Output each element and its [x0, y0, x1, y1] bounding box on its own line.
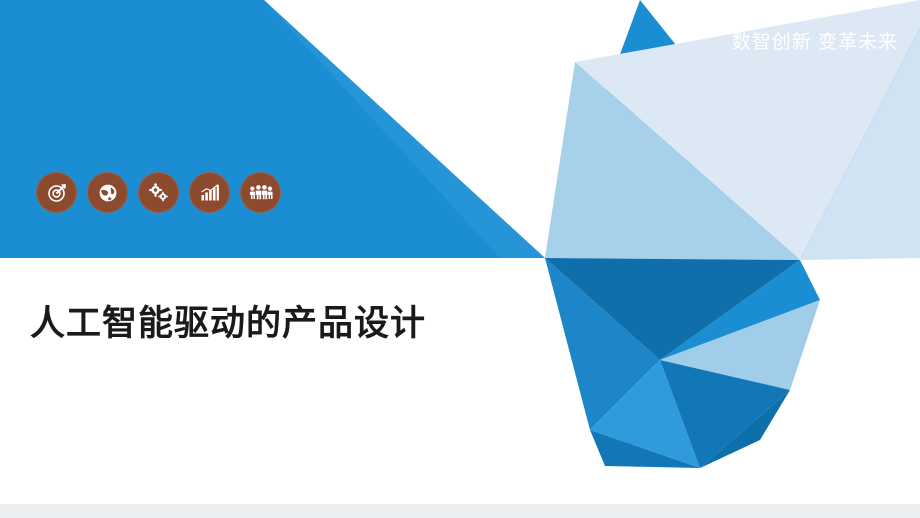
target-arrow-icon: [36, 172, 77, 213]
footer-strip: [0, 504, 920, 518]
page-title: 人工智能驱动的产品设计: [30, 295, 426, 346]
gears-icon: [138, 172, 179, 213]
globe-icon: [87, 172, 128, 213]
slide-canvas: 数智创新 变革未来: [0, 0, 920, 518]
polygon-decoration: [0, 0, 920, 518]
people-group-icon: [240, 172, 281, 213]
tagline-text: 数智创新 变革未来: [732, 27, 898, 54]
bar-chart-icon: [189, 172, 230, 213]
icon-badge-row: [36, 172, 281, 213]
